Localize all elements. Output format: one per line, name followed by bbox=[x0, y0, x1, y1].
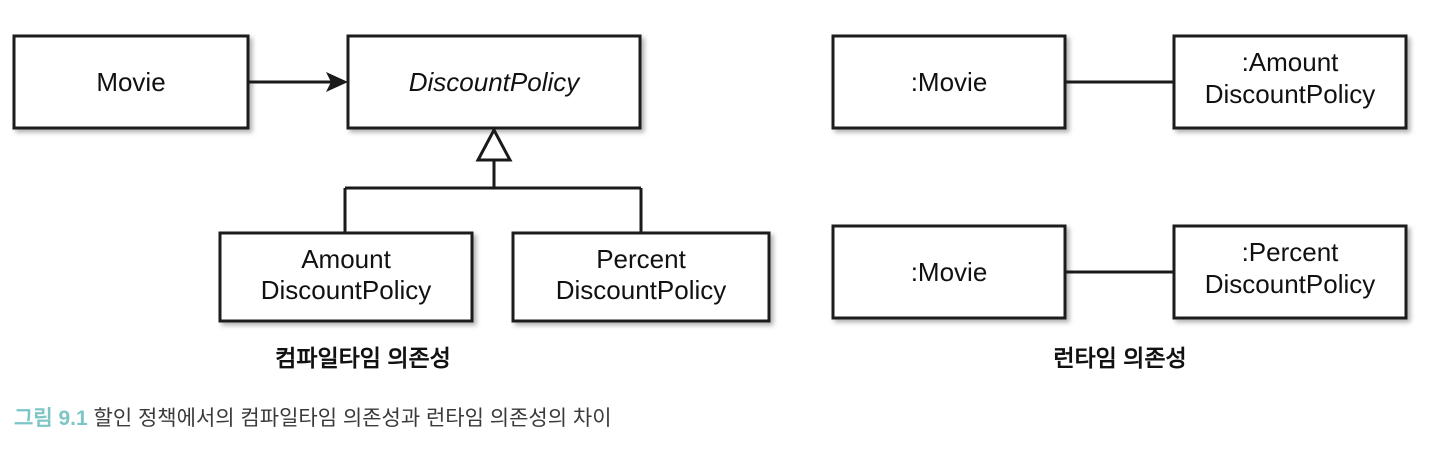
class-box-percent-discount-policy-label-line1: Percent bbox=[596, 244, 686, 274]
generalization-hollow-triangle-icon bbox=[478, 130, 510, 160]
class-box-amount-discount-policy-label-line2: DiscountPolicy bbox=[261, 275, 432, 305]
object-box-movie-1-label: :Movie bbox=[911, 67, 988, 97]
class-box-percent-discount-policy[interactable]: Percent DiscountPolicy bbox=[513, 233, 769, 321]
object-box-amount-discount-policy-label-line2: DiscountPolicy bbox=[1205, 79, 1376, 109]
object-box-movie-2-label: :Movie bbox=[911, 257, 988, 287]
object-row-2: :Movie :Percent DiscountPolicy bbox=[833, 226, 1406, 318]
right-diagram-caption: 런타임 의존성 bbox=[1053, 345, 1186, 371]
object-box-amount-discount-policy-label-line1: :Amount bbox=[1242, 47, 1340, 77]
left-class-diagram: Movie DiscountPolicy bbox=[14, 36, 769, 371]
left-diagram-caption: 컴파일타임 의존성 bbox=[275, 345, 451, 371]
dependency-arrow bbox=[248, 72, 348, 92]
generalization-arrow bbox=[345, 130, 641, 233]
object-box-percent-discount-policy[interactable]: :Percent DiscountPolicy bbox=[1174, 226, 1406, 318]
class-box-percent-discount-policy-label-line2: DiscountPolicy bbox=[556, 275, 727, 305]
figure-caption: 그림 9.1 할인 정책에서의 컴파일타임 의존성과 런타임 의존성의 차이 bbox=[14, 404, 612, 434]
object-box-percent-discount-policy-label-line1: :Percent bbox=[1242, 237, 1340, 267]
class-box-movie[interactable]: Movie bbox=[14, 36, 248, 128]
figure-caption-text: 할인 정책에서의 컴파일타임 의존성과 런타임 의존성의 차이 bbox=[94, 407, 612, 430]
right-object-diagram: :Movie :Amount DiscountPolicy :Movie bbox=[833, 36, 1406, 371]
object-box-movie-2[interactable]: :Movie bbox=[833, 226, 1065, 318]
object-box-amount-discount-policy[interactable]: :Amount DiscountPolicy bbox=[1174, 36, 1406, 128]
class-box-movie-label: Movie bbox=[96, 67, 165, 97]
class-box-discount-policy[interactable]: DiscountPolicy bbox=[348, 36, 640, 128]
object-box-movie-1[interactable]: :Movie bbox=[833, 36, 1065, 128]
object-row-1: :Movie :Amount DiscountPolicy bbox=[833, 36, 1406, 128]
class-box-amount-discount-policy[interactable]: Amount DiscountPolicy bbox=[220, 233, 472, 321]
figure-container: Movie DiscountPolicy bbox=[0, 0, 1450, 454]
uml-diagram-canvas: Movie DiscountPolicy bbox=[0, 0, 1450, 454]
class-box-amount-discount-policy-label-line1: Amount bbox=[301, 244, 391, 274]
class-box-discount-policy-label: DiscountPolicy bbox=[409, 67, 582, 97]
figure-number-label: 그림 9.1 bbox=[14, 407, 88, 430]
object-box-percent-discount-policy-label-line2: DiscountPolicy bbox=[1205, 269, 1376, 299]
